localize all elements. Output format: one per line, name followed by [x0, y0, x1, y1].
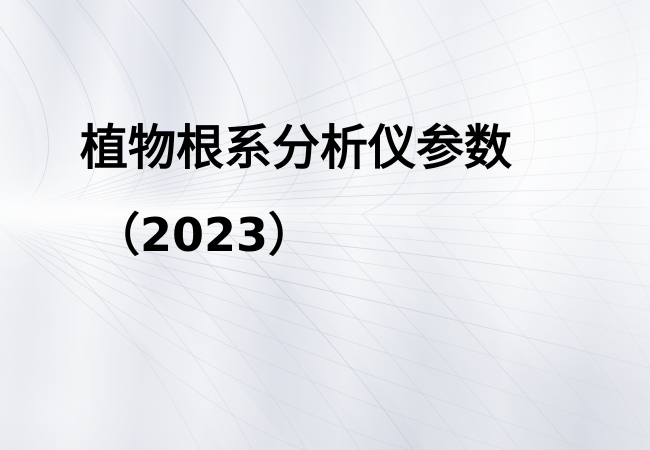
banner-text-block: 植物根系分析仪参数 （2023）	[0, 0, 650, 450]
banner-title: 植物根系分析仪参数	[80, 124, 512, 172]
title-banner: 植物根系分析仪参数 （2023）	[0, 0, 650, 450]
banner-subtitle-year: （2023）	[94, 212, 314, 258]
